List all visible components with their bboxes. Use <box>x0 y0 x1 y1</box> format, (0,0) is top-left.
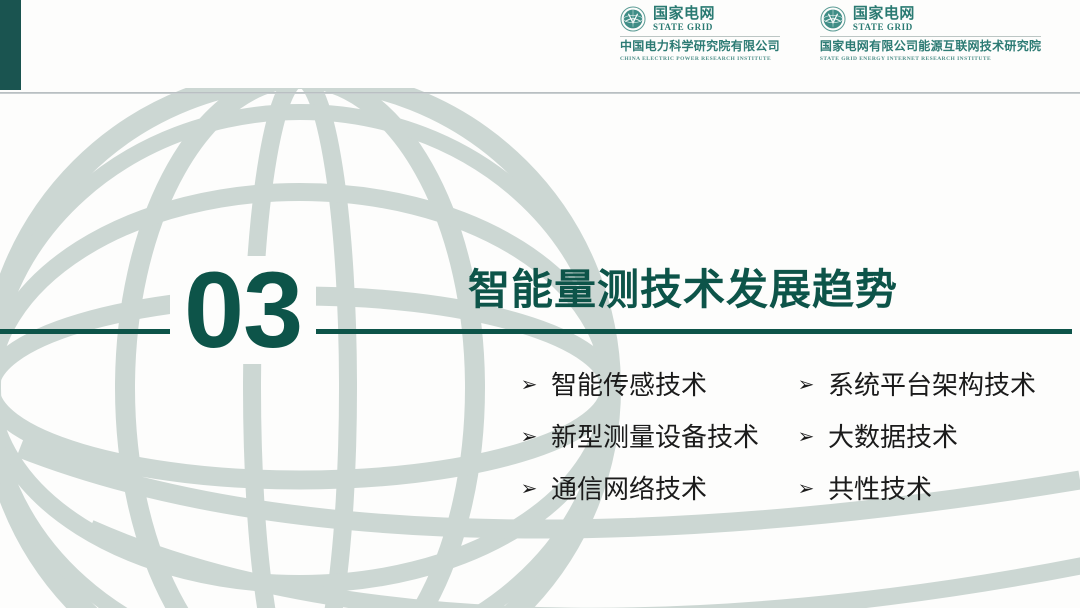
state-grid-globe-logo-icon <box>620 6 646 32</box>
list-item-label: 系统平台架构技术 <box>828 372 1036 398</box>
logo-group: 国家电网 STATE GRID 中国电力科学研究院有限公司 CHINA ELEC… <box>620 6 1041 62</box>
list-item-label: 智能传感技术 <box>551 372 707 398</box>
logo-sgeiri: 国家电网 STATE GRID 国家电网有限公司能源互联网技术研究院 STATE… <box>820 6 1041 62</box>
list-item[interactable]: ➢ 系统平台架构技术 <box>797 368 1036 402</box>
section-divider-rule <box>0 329 1072 334</box>
institute-name-en: CHINA ELECTRIC POWER RESEARCH INSTITUTE <box>620 56 771 62</box>
list-item-label: 通信网络技术 <box>551 476 707 502</box>
topic-column-left: ➢ 智能传感技术 ➢ 新型测量设备技术 ➢ 通信网络技术 <box>520 368 759 506</box>
brand-name-en: STATE GRID <box>653 23 715 32</box>
topic-column-right: ➢ 系统平台架构技术 ➢ 大数据技术 ➢ 共性技术 <box>797 368 1036 506</box>
topic-list-group: ➢ 智能传感技术 ➢ 新型测量设备技术 ➢ 通信网络技术 ➢ 系统平台架构技术 … <box>520 368 1036 506</box>
list-item[interactable]: ➢ 智能传感技术 <box>520 368 759 402</box>
globe-background-graphic <box>0 88 1080 608</box>
list-item-label: 新型测量设备技术 <box>551 424 759 450</box>
list-item[interactable]: ➢ 大数据技术 <box>797 420 1036 454</box>
logo-divider <box>620 36 780 37</box>
logo-cepri: 国家电网 STATE GRID 中国电力科学研究院有限公司 CHINA ELEC… <box>620 6 780 62</box>
section-number: 03 <box>170 256 316 364</box>
list-item[interactable]: ➢ 共性技术 <box>797 472 1036 506</box>
institute-name-en: STATE GRID ENERGY INTERNET RESEARCH INST… <box>820 56 991 62</box>
logo-top-row: 国家电网 STATE GRID <box>620 6 715 32</box>
arrow-bullet-icon: ➢ <box>520 479 538 499</box>
logo-wordmark: 国家电网 STATE GRID <box>853 6 915 32</box>
arrow-bullet-icon: ➢ <box>797 375 815 395</box>
header-divider-rule <box>0 92 1080 94</box>
arrow-bullet-icon: ➢ <box>520 375 538 395</box>
institute-name-cn: 中国电力科学研究院有限公司 <box>620 40 780 54</box>
list-item-label: 共性技术 <box>828 476 932 502</box>
logo-divider <box>820 36 1041 37</box>
arrow-bullet-icon: ➢ <box>797 427 815 447</box>
brand-name-cn: 国家电网 <box>853 6 915 21</box>
brand-name-en: STATE GRID <box>853 23 915 32</box>
state-grid-globe-logo-icon <box>820 6 846 32</box>
arrow-bullet-icon: ➢ <box>797 479 815 499</box>
list-item-label: 大数据技术 <box>828 424 958 450</box>
list-item[interactable]: ➢ 新型测量设备技术 <box>520 420 759 454</box>
presentation-slide: 国家电网 STATE GRID 中国电力科学研究院有限公司 CHINA ELEC… <box>0 0 1080 608</box>
institute-name-cn: 国家电网有限公司能源互联网技术研究院 <box>820 40 1041 54</box>
logo-wordmark: 国家电网 STATE GRID <box>653 6 715 32</box>
arrow-bullet-icon: ➢ <box>520 427 538 447</box>
brand-name-cn: 国家电网 <box>653 6 715 21</box>
list-item[interactable]: ➢ 通信网络技术 <box>520 472 759 506</box>
logo-top-row: 国家电网 STATE GRID <box>820 6 915 32</box>
corner-accent-bar <box>0 0 21 90</box>
page-title: 智能量测技术发展趋势 <box>468 269 898 311</box>
